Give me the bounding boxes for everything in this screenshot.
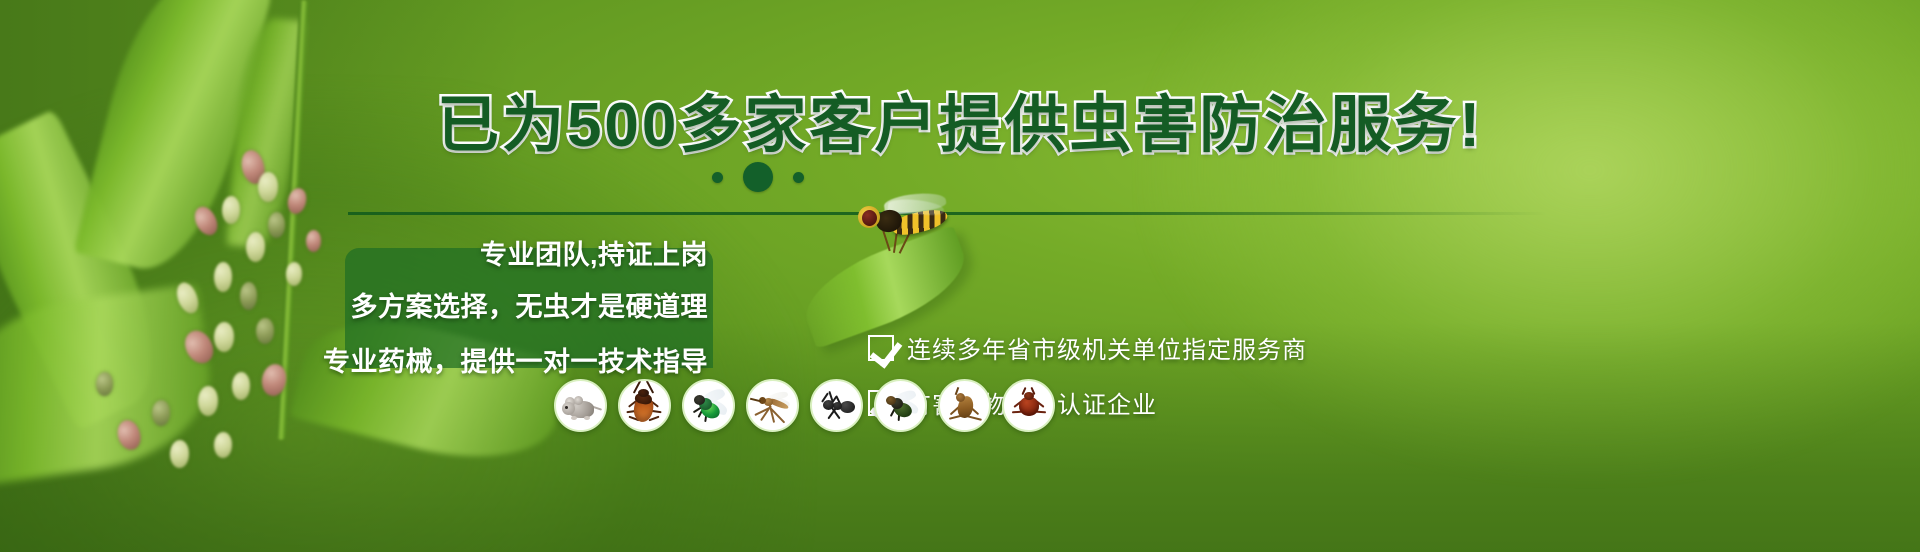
selling-points-list: 专业团队,持证上岗 多方案选择，无虫才是硬道理 专业药械，提供一对一技术指导 xyxy=(340,218,720,384)
mosquito-icon[interactable] xyxy=(746,379,799,432)
bedbug-icon[interactable] xyxy=(1002,379,1055,432)
ant-icon[interactable] xyxy=(810,379,863,432)
pest-icon-row xyxy=(554,379,1055,432)
mouse-icon[interactable] xyxy=(554,379,607,432)
selling-point-3: 专业药械，提供一对一技术指导 xyxy=(323,332,708,384)
pest-control-banner: 已为500多家客户提供虫害防治服务! 专业团队,持证上岗 多方案选择，无虫才是硬… xyxy=(0,0,1920,552)
housefly-icon[interactable] xyxy=(874,379,927,432)
checklist-item: 连续多年省市级机关单位指定服务商 xyxy=(868,330,1307,365)
hoverfly-on-leaf xyxy=(852,200,952,252)
decorative-dots xyxy=(712,162,804,192)
dot-large-center xyxy=(743,162,773,192)
selling-point-2: 多方案选择，无虫才是硬道理 xyxy=(351,282,709,332)
flea-icon[interactable] xyxy=(938,379,991,432)
checklist-item-label: 连续多年省市级机关单位指定服务商 xyxy=(907,330,1307,365)
page-title-text: 已为500多家客户提供虫害防治服务! xyxy=(437,91,1483,160)
selling-point-1: 专业团队,持证上岗 xyxy=(480,218,708,282)
page-title: 已为500多家客户提供虫害防治服务! xyxy=(0,74,1920,164)
greenfly-icon[interactable] xyxy=(682,379,735,432)
checkmark-icon xyxy=(868,335,894,361)
dot-small-right xyxy=(793,172,804,183)
cockroach-icon[interactable] xyxy=(618,379,671,432)
dot-small-left xyxy=(712,172,723,183)
